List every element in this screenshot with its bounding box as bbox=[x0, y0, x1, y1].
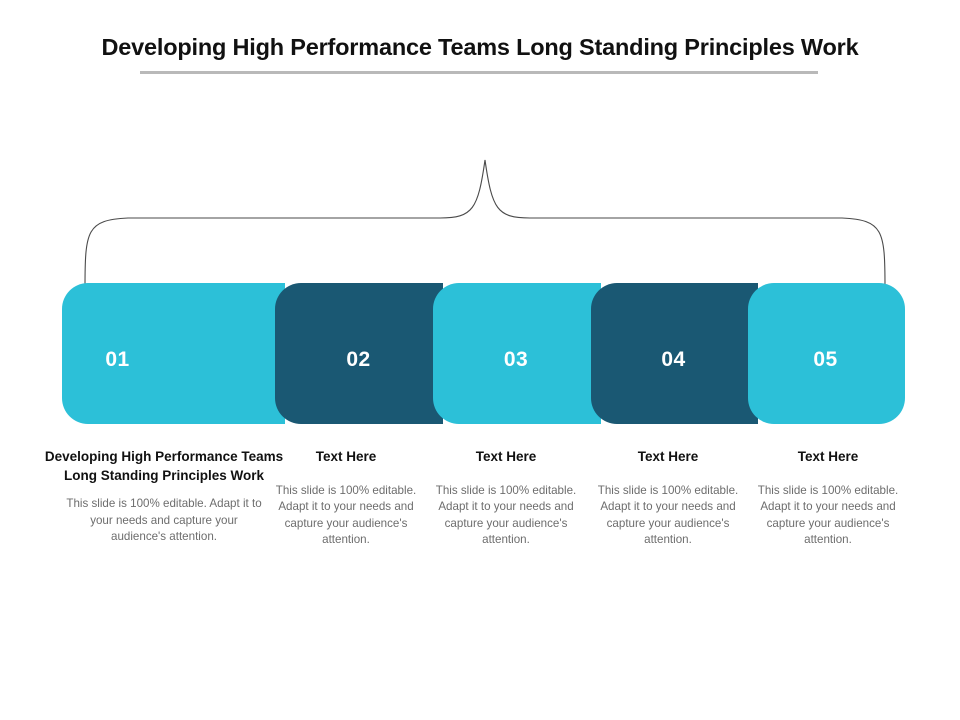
step-heading-04: Text Here bbox=[594, 447, 742, 467]
step-number-03: 03 bbox=[504, 348, 528, 372]
step-description-columns: Developing High Performance Teams Long S… bbox=[0, 447, 960, 617]
step-heading-02: Text Here bbox=[272, 447, 420, 467]
step-number-02: 02 bbox=[346, 348, 370, 372]
step-body-04: This slide is 100% editable. Adapt it to… bbox=[594, 483, 742, 549]
step-heading-05: Text Here bbox=[754, 447, 902, 467]
step-column-04: Text Here This slide is 100% editable. A… bbox=[594, 447, 742, 549]
step-card-05[interactable]: 05 bbox=[748, 283, 905, 424]
step-body-03: This slide is 100% editable. Adapt it to… bbox=[432, 483, 580, 549]
step-column-03: Text Here This slide is 100% editable. A… bbox=[432, 447, 580, 549]
step-number-04: 04 bbox=[661, 348, 685, 372]
step-number-05: 05 bbox=[813, 348, 837, 372]
step-heading-03: Text Here bbox=[432, 447, 580, 467]
step-card-01[interactable]: 01 bbox=[62, 283, 285, 424]
step-column-01: Developing High Performance Teams Long S… bbox=[40, 447, 288, 546]
step-card-03[interactable]: 03 bbox=[433, 283, 601, 424]
title-divider bbox=[140, 71, 818, 74]
step-card-04[interactable]: 04 bbox=[591, 283, 758, 424]
step-body-05: This slide is 100% editable. Adapt it to… bbox=[754, 483, 902, 549]
step-card-band: 01 02 03 04 05 bbox=[0, 283, 960, 424]
page-title: Developing High Performance Teams Long S… bbox=[0, 34, 960, 61]
slide-canvas: Developing High Performance Teams Long S… bbox=[0, 0, 960, 720]
step-card-02[interactable]: 02 bbox=[275, 283, 443, 424]
curly-brace-connector bbox=[70, 152, 900, 287]
step-heading-01: Developing High Performance Teams Long S… bbox=[40, 447, 288, 485]
step-body-02: This slide is 100% editable. Adapt it to… bbox=[272, 483, 420, 549]
step-body-01: This slide is 100% editable. Adapt it to… bbox=[40, 496, 288, 546]
step-column-02: Text Here This slide is 100% editable. A… bbox=[272, 447, 420, 549]
step-number-01: 01 bbox=[105, 348, 129, 372]
step-column-05: Text Here This slide is 100% editable. A… bbox=[754, 447, 902, 549]
